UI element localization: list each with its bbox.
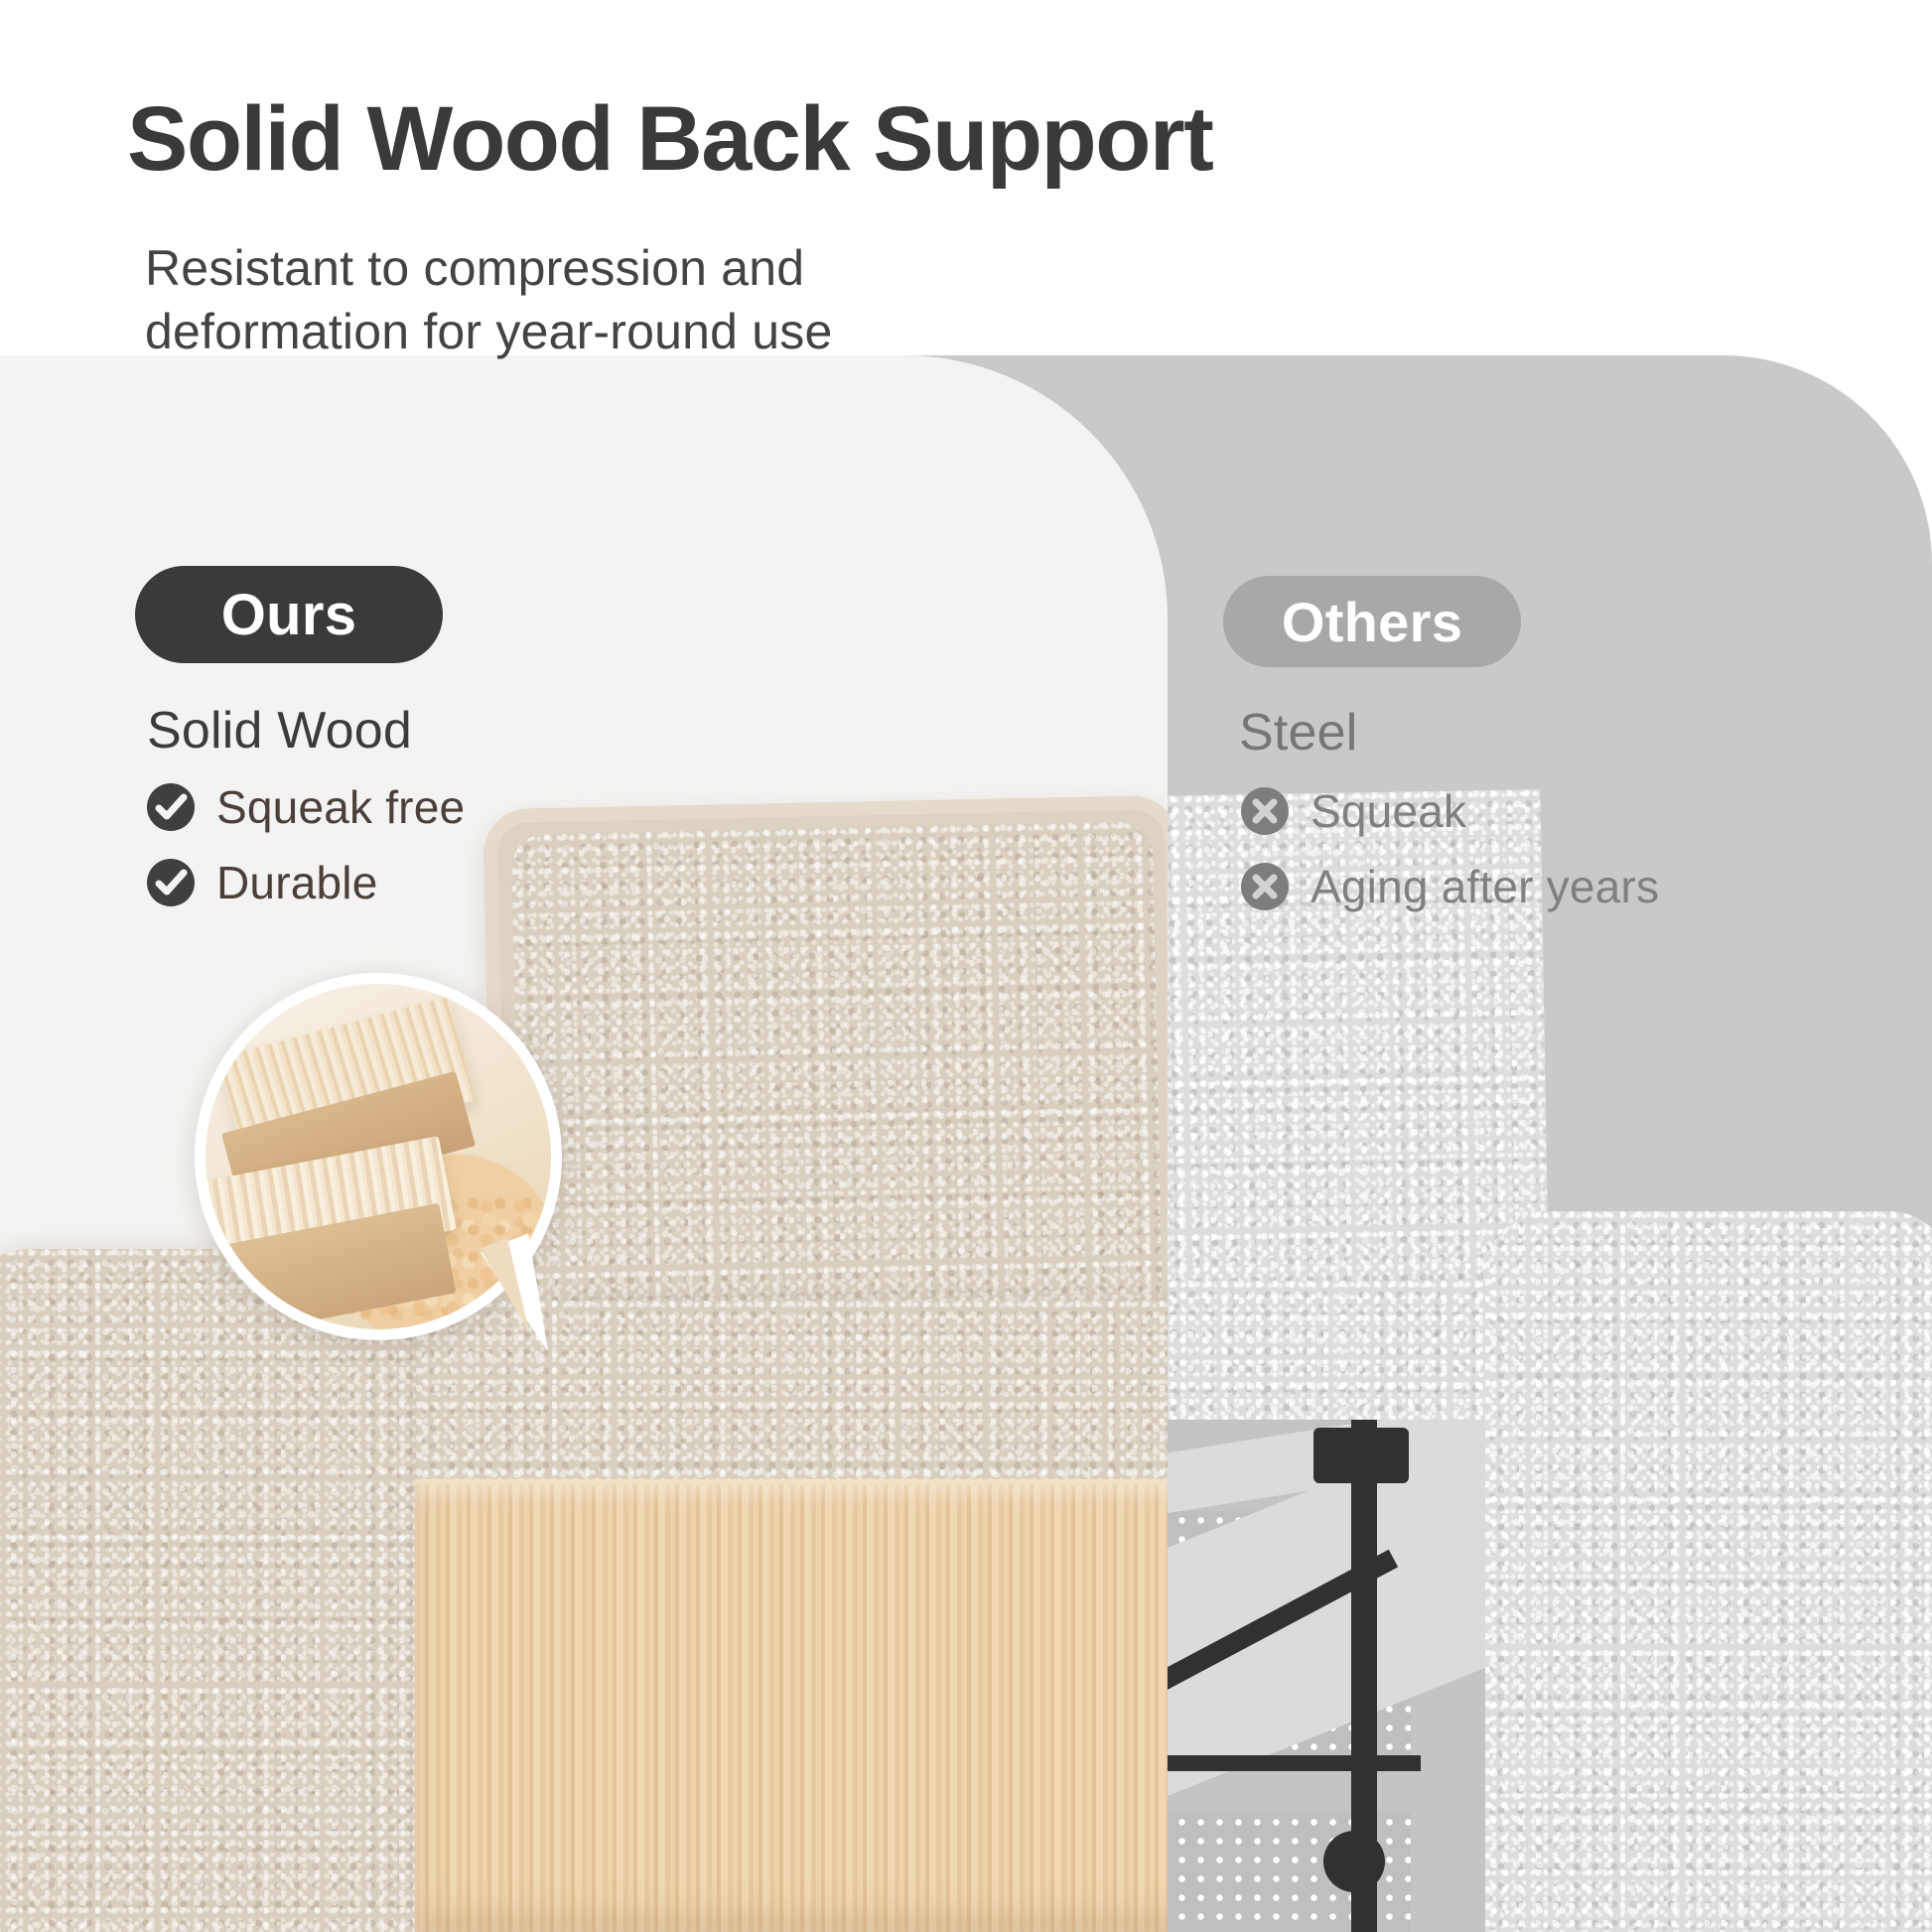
steel-spring: [1168, 1527, 1258, 1696]
check-circle-icon: [145, 857, 197, 908]
boucle-texture: [0, 1249, 427, 1932]
boucle-texture: [511, 821, 1164, 1364]
list-item: Durable: [145, 856, 465, 909]
boucle-texture: [1485, 1211, 1932, 1932]
material-label-ours: Solid Wood: [147, 701, 412, 760]
page-subtitle-line2: deformation for year-round use: [145, 300, 832, 363]
sofa-back-cushion-inner: [511, 821, 1164, 1364]
product-photo: [0, 784, 1932, 1932]
material-label-others: Steel: [1239, 703, 1358, 762]
page-subtitle: Resistant to compression and deformation…: [145, 236, 832, 363]
list-item: Squeak: [1239, 784, 1659, 838]
sofa-back-cushion: [483, 795, 1168, 1366]
steel-bracket: [1313, 1428, 1409, 1483]
x-circle-icon: [1239, 785, 1291, 837]
list-item-label: Squeak free: [216, 780, 465, 834]
sofa-arm-right: [1485, 1211, 1932, 1932]
header: Solid Wood Back Support Resistant to com…: [0, 0, 1932, 355]
sofa-others-image: [1168, 784, 1932, 1932]
sofa-arm-left: [0, 1249, 427, 1932]
page-title: Solid Wood Back Support: [127, 91, 1212, 188]
list-item-label: Aging after years: [1311, 860, 1659, 913]
sofa-ours-image: [0, 784, 1168, 1932]
check-circle-icon: [145, 781, 197, 833]
steel-pivot-bolt: [1323, 1831, 1385, 1892]
x-circle-icon: [1239, 861, 1291, 912]
steel-spring: [1168, 1777, 1262, 1926]
bullet-list-ours: Squeak free Durable: [145, 780, 465, 931]
list-item: Aging after years: [1239, 860, 1659, 913]
list-item-label: Durable: [216, 856, 378, 909]
list-item-label: Squeak: [1311, 784, 1466, 838]
bullet-list-others: Squeak Aging after years: [1239, 784, 1659, 935]
badge-others: Others: [1223, 576, 1521, 667]
page-subtitle-line1: Resistant to compression and: [145, 236, 832, 300]
steel-horizontal-rail: [1168, 1755, 1421, 1771]
badge-ours: Ours: [135, 566, 443, 663]
solid-wood-beam: [415, 1485, 1168, 1932]
infographic-page: Solid Wood Back Support Resistant to com…: [0, 0, 1932, 1932]
list-item: Squeak free: [145, 780, 465, 834]
wood-detail-callout: [195, 973, 562, 1340]
